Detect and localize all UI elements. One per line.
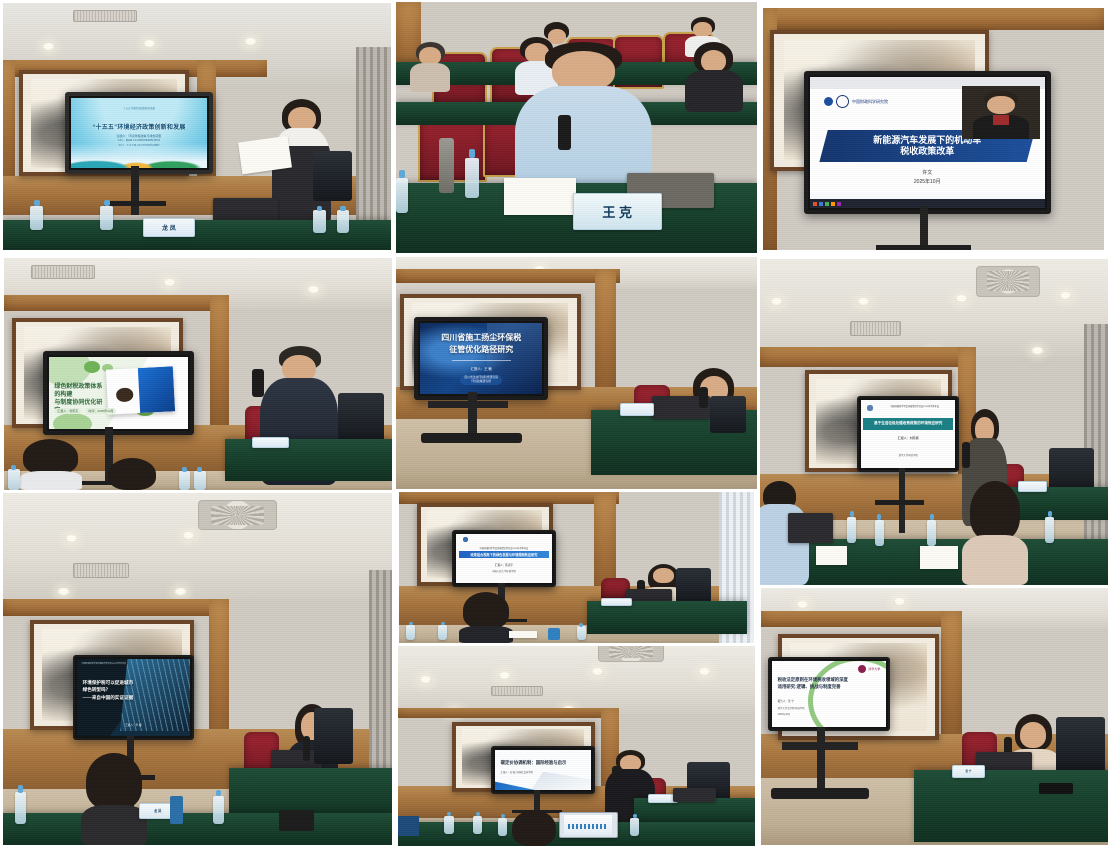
photo-standing-presenter-wideroom[interactable]: 中国环境科学学会环境经济学分会2025年学术年会 基于生活垃圾处理收费政策的环境… xyxy=(760,259,1108,585)
photo-tax-legality-principle[interactable]: 清华大学 税收法定原则在环境税收领域的深度 适用研究:逻辑、挑战与制度完善 报告… xyxy=(761,588,1108,845)
slide-author: 汇报人：王 敏 xyxy=(471,366,492,371)
slide-title: 碳定价协调机制：国际经验与启示 xyxy=(501,760,585,766)
speaker-video-thumbnail xyxy=(962,86,1039,139)
audience-laptop xyxy=(559,812,618,838)
microphone xyxy=(558,115,571,150)
presentation-tv: 四川省施工扬尘环保税 征管优化路径研究 汇报人：王 敏 四川省生态环境科学研究院… xyxy=(414,317,548,399)
photo-speaker-green-fiscal[interactable]: 绿色财税政策体系的构建 与制度协同优化研究 汇报人：张晓东 时间：2025年10… xyxy=(4,258,392,490)
photo-presenter-sichuan-dust[interactable]: 四川省施工扬尘环保税 征管优化路径研究 汇报人：王 敏 四川省生态环境科学研究院… xyxy=(396,257,757,489)
slide-author: 汇报人：李 娜 xyxy=(77,723,190,727)
presentation-tv: 中国环境科学学会环境经济学分会2025年学术年会 基于生活垃圾处理收费政策的环境… xyxy=(857,396,958,472)
slide-org: 清华大学 xyxy=(868,667,880,671)
nameplate-text: 王 克 xyxy=(602,202,632,221)
photo-panel-speaker-microphone[interactable]: 王 克 xyxy=(396,2,757,253)
slide-author: 许文 xyxy=(810,169,1045,176)
slide-org2: 清华大学法学院/环境学院 xyxy=(778,706,805,710)
slide-author: 汇报人：陈思宇 xyxy=(456,563,551,567)
slide-header: 中国环境科学学会环境经济学分会2025年学术年会 xyxy=(461,546,547,550)
slide-org: 清华大学环境学院 xyxy=(861,453,954,457)
slide-header: 中国环境科学学会环境经济学分会2025年学术年会 xyxy=(82,662,126,665)
nameplate: 龙 凤 xyxy=(143,218,195,237)
slide-author: 汇报人：赵 敏 中国社会科学院 xyxy=(501,770,533,774)
slide-org: 中国财政科学研究院 xyxy=(852,99,888,105)
presentation-tv: 中国环境科学学会环境经济学分会2025年学术年会 环境保护税可以促进城市 绿色转… xyxy=(73,655,194,740)
photo-presenter-blue-banner-slide[interactable]: 中国环境科学学会环境经济学分会2025年学术年会 政策组合视角下的绿色发展与环境… xyxy=(399,492,754,643)
slide-date: 时间：2025年10月 xyxy=(85,408,116,414)
handheld-papers xyxy=(238,135,292,174)
photo-carbon-pricing-standing[interactable]: 碳定价协调机制：国际经验与启示 汇报人：赵 敏 中国社会科学院 xyxy=(398,646,755,846)
nameplate-text: 龙 凤 xyxy=(154,808,161,813)
nameplate: 张 宁 xyxy=(952,765,985,777)
presentation-tv: 绿色财税政策体系的构建 与制度协同优化研究 汇报人：张晓东 时间：2025年10… xyxy=(43,351,195,436)
presentation-screen: “十五五”环境经济政策创新和发展 “十五五”环境经济政策创新和发展 议题六：环境… xyxy=(65,92,213,174)
presentation-tv: 中国财政科学研究院 新能源汽车发展下的机动车 税收政策改革 许文 2025年10… xyxy=(804,71,1051,215)
photo-environment-tax-urban-green[interactable]: 中国环境科学学会环境经济学分会2025年学术年会 环境保护税可以促进城市 绿色转… xyxy=(3,493,392,845)
slide-session: 议题六：环境财税政策与绿色转型 xyxy=(116,134,161,138)
slide-title: 政策组合视角下的绿色发展与环境规制效应研究 xyxy=(470,552,537,557)
slide-title: “十五五”环境经济政策创新和发展 xyxy=(92,124,185,132)
audience-center xyxy=(962,481,1028,585)
slide-author: 汇报人：刘晓楠 xyxy=(861,436,954,440)
nameplate-text: 龙 凤 xyxy=(162,223,176,232)
nameplate: 王 克 xyxy=(573,193,662,230)
audience-foreground xyxy=(81,753,147,845)
slide-title: 税收法定原则在环境税收领域的深度 适用研究:逻辑、挑战与制度完善 xyxy=(778,676,874,690)
slide-date: 2025年10月 xyxy=(810,178,1045,185)
slide-header: 中国环境科学学会环境经济学分会2025年学术年会 xyxy=(878,404,951,408)
nameplate-text: 张 宁 xyxy=(965,769,971,773)
slide-org: 中国人民大学环境学院 xyxy=(456,569,551,573)
slide-author: 报告人：张 宁 xyxy=(778,699,794,703)
photo-collage: “十五五”环境经济政策创新和发展 “十五五”环境经济政策创新和发展 议题六：环境… xyxy=(0,0,1110,848)
photo-speaker-podium-banner[interactable]: “十五五”环境经济政策创新和发展 “十五五”环境经济政策创新和发展 议题六：环境… xyxy=(3,3,391,250)
photo-presentation-screen-newenergy[interactable]: 中国财政科学研究院 新能源汽车发展下的机动车 税收政策改革 许文 2025年10… xyxy=(763,8,1104,250)
slide-title: 环境保护税可以促进城市 绿色转型吗？ ——来自中国的实证证据 xyxy=(83,679,153,701)
slide-org: 四川省生态环境科学研究院 环境政策研究所 xyxy=(460,375,502,385)
slide-title: 基于生活垃圾处理收费政策的环境效应研究 xyxy=(874,421,942,426)
slide-header: “十五五”环境经济政策创新和发展 xyxy=(71,106,207,110)
slide-date: 2025年10月 xyxy=(778,712,791,716)
presentation-tv: 中国环境科学学会环境经济学分会2025年学术年会 政策组合视角下的绿色发展与环境… xyxy=(452,530,555,587)
slide-author: 汇报人：张晓东 xyxy=(54,408,81,414)
presentation-tv: 碳定价协调机制：国际经验与启示 汇报人：赵 敏 中国社会科学院 xyxy=(491,746,595,794)
presentation-tv: 清华大学 税收法定原则在环境税收领域的深度 适用研究:逻辑、挑战与制度完善 报告… xyxy=(768,657,890,730)
